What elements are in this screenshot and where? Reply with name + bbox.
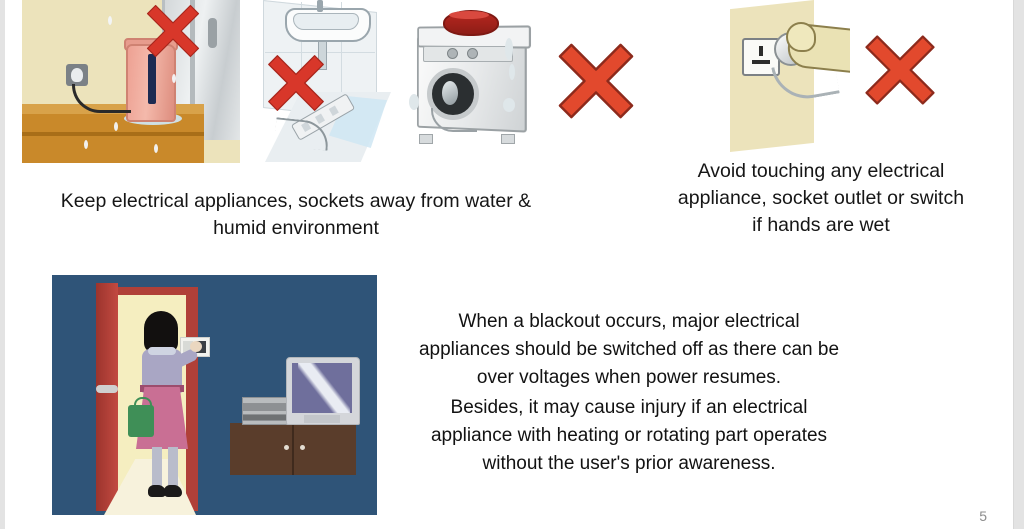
woman-collar [148, 347, 176, 355]
open-door-panel [96, 283, 118, 511]
illustration-wet-hand-on-plug [730, 0, 850, 155]
caption-avoid-touching-with-wet-hands: Avoid touching any electrical appliance,… [650, 158, 992, 239]
woman-leg [168, 447, 178, 489]
page-number: 5 [979, 508, 987, 524]
window-handle [208, 18, 217, 48]
caption-keep-appliances-away-from-water: Keep electrical appliances, sockets away… [22, 188, 570, 242]
machine-foot [501, 134, 515, 144]
water-droplet [84, 140, 88, 149]
water-droplet [154, 144, 158, 153]
wash-basin-bowl [293, 13, 359, 30]
water-droplet [108, 16, 112, 25]
woman-shoe [164, 485, 182, 497]
handbag [128, 405, 154, 437]
faucet [317, 0, 323, 12]
stereo-deck [242, 403, 290, 411]
wall-socket [66, 64, 88, 86]
red-cross-icon [265, 52, 327, 114]
page-gutter-left [0, 0, 5, 529]
kettle-water-gauge [148, 54, 156, 104]
illustration-power-strip-on-wet-floor [255, 0, 401, 165]
woman-hand [190, 341, 202, 352]
slide-canvas: Keep electrical appliances, sockets away… [0, 0, 1024, 529]
control-knob [447, 48, 458, 59]
red-cross-icon [144, 2, 202, 60]
page-gutter-right [1014, 0, 1024, 529]
illustration-washing-machine-with-basin [405, 8, 550, 150]
counter-edge [22, 132, 204, 136]
red-water-basin-rim [449, 11, 489, 19]
page-edge-line [1013, 0, 1014, 529]
illustration-woman-switching-off-lights [52, 275, 377, 515]
hand-thumb [786, 22, 816, 52]
paragraph-blackout-switch-off: When a blackout occurs, major electrical… [388, 308, 870, 392]
water-drip [505, 38, 513, 60]
water-droplet [172, 74, 176, 83]
water-drip [509, 64, 515, 80]
control-knob [467, 48, 478, 59]
red-cross-icon [555, 40, 637, 122]
cabinet-knob [300, 445, 305, 450]
tv-screen-glare [298, 363, 350, 413]
illustration-kettle-near-wet-window [22, 0, 240, 163]
red-cross-icon [862, 32, 938, 108]
water-drip [409, 94, 419, 110]
door-handle [96, 385, 118, 393]
cabinet-door-split [292, 423, 294, 475]
machine-foot [419, 134, 433, 144]
woman-leg [152, 447, 162, 489]
stereo-deck [242, 414, 290, 421]
tv-stand [304, 415, 340, 423]
water-droplet [114, 122, 118, 131]
paragraph-injury-warning: Besides, it may cause injury if an elect… [388, 394, 870, 478]
cabinet-knob [284, 445, 289, 450]
water-drip [503, 98, 515, 112]
